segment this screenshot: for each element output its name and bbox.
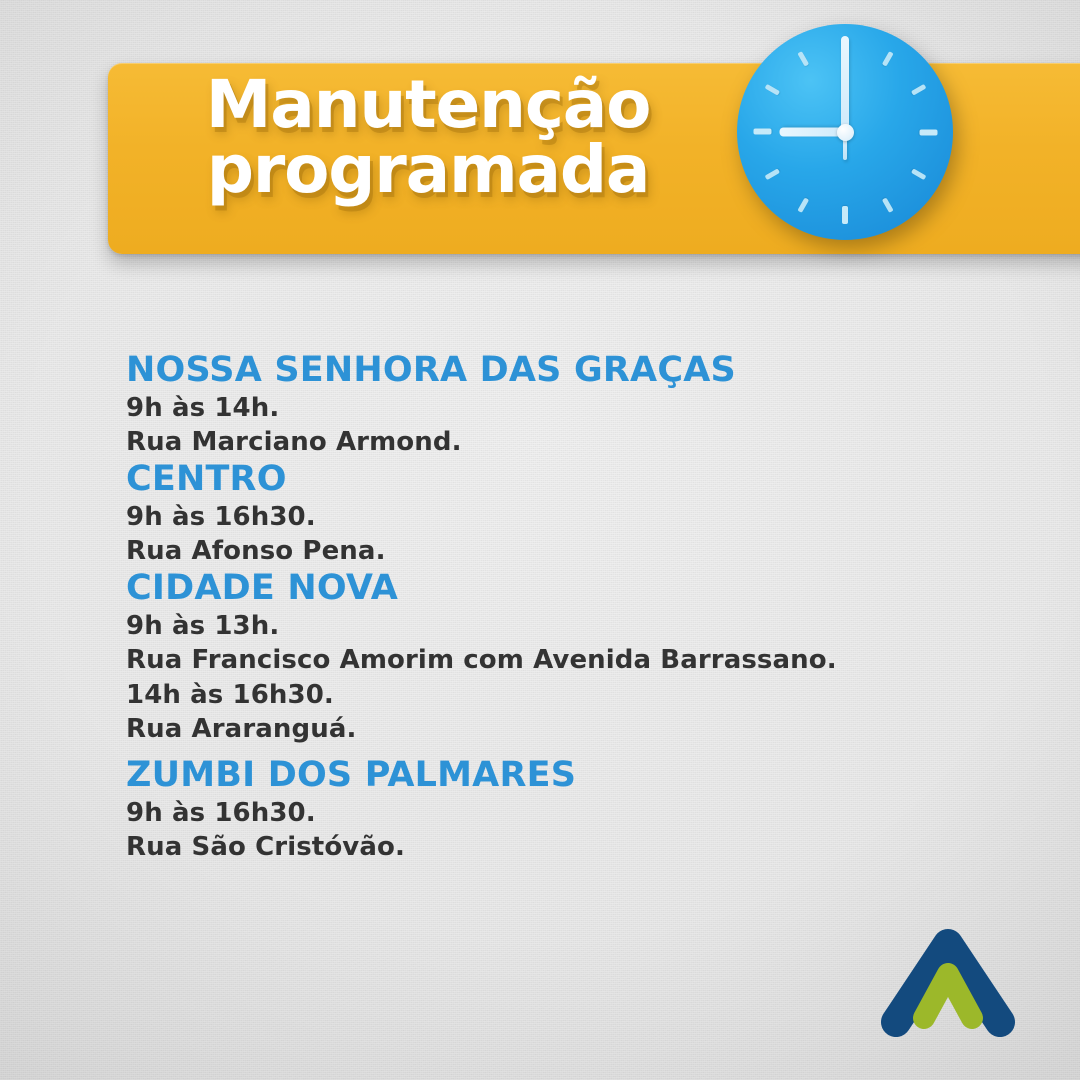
section-spacer — [126, 746, 1006, 755]
outage-street: Rua Marciano Armond. — [126, 425, 1006, 459]
page-title: Manutenção programada — [108, 72, 748, 203]
neighborhood-name: NOSSA SENHORA DAS GRAÇAS — [126, 350, 1006, 391]
neighborhood-name: ZUMBI DOS PALMARES — [126, 755, 1006, 796]
neighborhood-name: CIDADE NOVA — [126, 568, 1006, 609]
clock-tick-3 — [845, 130, 939, 135]
clock-minute-hand — [841, 36, 849, 132]
clock-hour-hand — [779, 128, 845, 137]
outage-street: Rua Araranguá. — [126, 712, 1006, 746]
outage-street: Rua São Cristóvão. — [126, 830, 1006, 864]
outage-time-range: 9h às 13h. — [126, 609, 1006, 643]
neighborhood-block: ZUMBI DOS PALMARES9h às 16h30.Rua São Cr… — [126, 755, 1006, 864]
neighborhood-block: CIDADE NOVA9h às 13h.Rua Francisco Amori… — [126, 568, 1006, 746]
outage-time-range: 9h às 16h30. — [126, 796, 1006, 830]
neighborhood-block: CENTRO9h às 16h30.Rua Afonso Pena. — [126, 459, 1006, 568]
maintenance-schedule-list: NOSSA SENHORA DAS GRAÇAS9h às 14h.Rua Ma… — [126, 350, 1006, 865]
analog-clock-icon — [737, 24, 953, 240]
outage-time-range: 14h às 16h30. — [126, 678, 1006, 712]
chevron-arrow-logo — [878, 918, 1018, 1038]
neighborhood-name: CENTRO — [126, 459, 1006, 500]
neighborhood-block: NOSSA SENHORA DAS GRAÇAS9h às 14h.Rua Ma… — [126, 350, 1006, 459]
outage-street: Rua Afonso Pena. — [126, 534, 1006, 568]
outage-street: Rua Francisco Amorim com Avenida Barrass… — [126, 643, 1006, 677]
outage-time-range: 9h às 14h. — [126, 391, 1006, 425]
poster-canvas: Manutenção programada NOSSA SENHORA DAS … — [0, 0, 1080, 1080]
clock-center-pin — [837, 124, 854, 141]
outage-time-range: 9h às 16h30. — [126, 500, 1006, 534]
clock-face — [737, 24, 953, 240]
